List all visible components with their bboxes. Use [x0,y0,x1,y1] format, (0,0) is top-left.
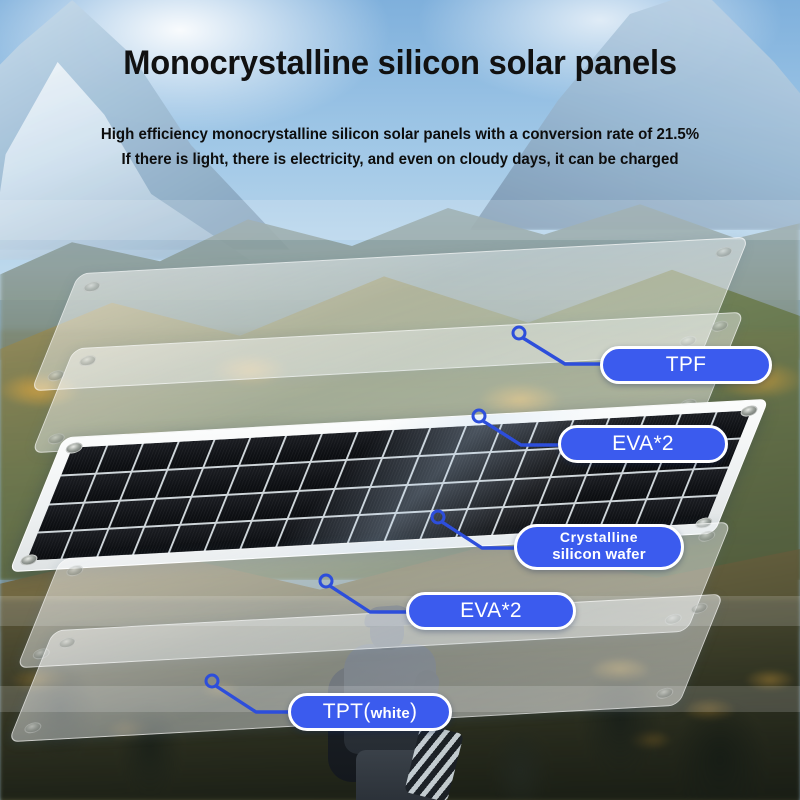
grommet-icon [82,281,103,293]
grommet-icon [709,320,730,332]
subtitle-line-1: High efficiency monocrystalline silicon … [12,122,788,147]
callout-label-tpt[interactable]: TPT (white) [288,693,452,731]
grommet-icon [64,565,85,577]
leader-line-eva-top [465,404,575,464]
grommet-icon [739,405,760,417]
callout-label-eva-top[interactable]: EVA*2 [558,425,728,463]
callout-label-eva-bottom[interactable]: EVA*2 [406,592,576,630]
callout-text: TPT [323,700,364,724]
grommet-icon [689,602,710,614]
callout-label-wafer[interactable]: Crystalline silicon wafer [514,524,684,570]
infographic-canvas: TPF EVA*2 Crystalline silicon wafer EVA*… [0,0,800,800]
page-subtitle: High efficiency monocrystalline silicon … [0,122,800,172]
callout-text: EVA*2 [460,599,522,623]
callout-text: TPF [666,353,707,377]
subtitle-line-2: If there is light, there is electricity,… [12,147,788,172]
grommet-icon [77,355,98,367]
callout-text: EVA*2 [612,432,674,456]
callout-text-line1: Crystalline [560,529,638,547]
callout-text-qualifier: white [371,705,410,722]
grommet-icon [22,722,43,734]
callout-label-tpf[interactable]: TPF [600,346,772,384]
grommet-icon [714,246,735,258]
page-title: Monocrystalline silicon solar panels [16,44,784,83]
grommet-icon [654,687,675,699]
callout-text-paren: (white) [363,700,417,724]
grommet-icon [19,554,40,566]
grommet-icon [57,637,78,649]
grommet-icon [696,530,717,542]
callout-text-line2: silicon wafer [552,546,645,565]
